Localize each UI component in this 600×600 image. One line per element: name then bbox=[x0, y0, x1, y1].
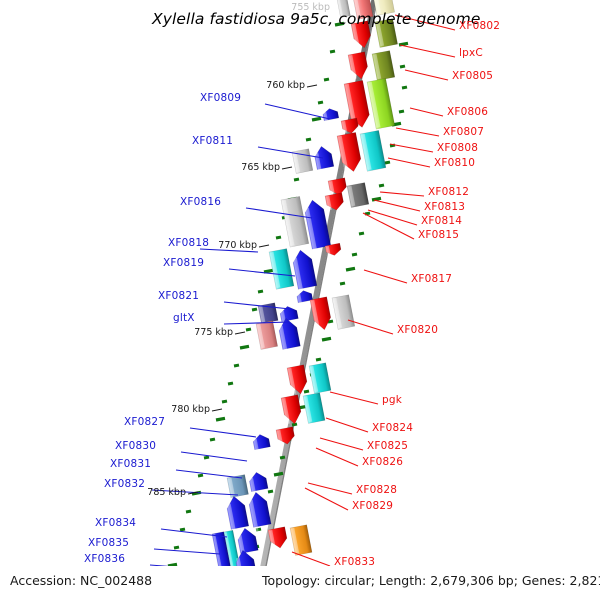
accession-text: Accession: NC_002488 bbox=[10, 573, 152, 588]
gene-label-xf0836[interactable]: XF0836 bbox=[84, 553, 125, 565]
scale-label-765-kbp: 765 kbp bbox=[234, 162, 280, 173]
gene-XF0820-gray[interactable] bbox=[332, 295, 355, 330]
gene-label-gltx[interactable]: gltX bbox=[173, 312, 195, 324]
scale-tick bbox=[294, 179, 299, 180]
scale-tick bbox=[324, 79, 329, 80]
gene-label-xf0826[interactable]: XF0826 bbox=[362, 456, 403, 468]
scale-tick bbox=[312, 118, 321, 120]
scale-tick bbox=[198, 475, 203, 476]
gene-label-xf0825[interactable]: XF0825 bbox=[367, 440, 408, 452]
gene-label-xf0812[interactable]: XF0812 bbox=[428, 186, 469, 198]
gene-label-xf0830[interactable]: XF0830 bbox=[115, 440, 156, 452]
gene-label-xf0814[interactable]: XF0814 bbox=[421, 215, 462, 227]
gene-label-xf0817[interactable]: XF0817 bbox=[411, 273, 452, 285]
scale-label-760-kbp: 760 kbp bbox=[259, 80, 305, 91]
scale-tick bbox=[304, 391, 309, 392]
gene-label-xf0818[interactable]: XF0818 bbox=[168, 237, 209, 249]
leader-line bbox=[258, 147, 323, 158]
gene-label-pgk[interactable]: pgk bbox=[382, 394, 402, 406]
gene-XF0813[interactable] bbox=[325, 193, 345, 212]
scale-tick bbox=[276, 237, 281, 238]
gene-XF0833-orange[interactable] bbox=[290, 525, 312, 556]
scale-tick bbox=[252, 309, 257, 310]
scale-tick bbox=[402, 87, 407, 88]
leader-line bbox=[348, 320, 393, 334]
scale-tick bbox=[379, 185, 384, 186]
leader-line bbox=[410, 108, 443, 116]
scale-tick bbox=[268, 491, 273, 492]
gene-label-xf0815[interactable]: XF0815 bbox=[418, 229, 459, 241]
gene-label-xf0809[interactable]: XF0809 bbox=[200, 92, 241, 104]
gene-label-xf0831[interactable]: XF0831 bbox=[110, 458, 151, 470]
gene-label-xf0819[interactable]: XF0819 bbox=[163, 257, 204, 269]
scale-tick bbox=[186, 511, 191, 512]
leader-line bbox=[181, 452, 247, 461]
gene-XF0807[interactable] bbox=[341, 118, 359, 135]
leader-line bbox=[265, 104, 330, 119]
gene-label-xf0835[interactable]: XF0835 bbox=[88, 537, 129, 549]
scale-label-770-kbp: 770 kbp bbox=[211, 240, 257, 251]
scale-tick bbox=[316, 359, 321, 360]
scale-label-775-kbp: 775 kbp bbox=[187, 327, 233, 338]
leader-line bbox=[190, 428, 256, 437]
scale-tick bbox=[340, 283, 345, 284]
scale-tick bbox=[306, 139, 311, 140]
gene-label-xf0828[interactable]: XF0828 bbox=[356, 484, 397, 496]
topology-text: Topology: circular; Length: 2,679,306 bp… bbox=[262, 573, 600, 588]
gene-label-xf0821[interactable]: XF0821 bbox=[158, 290, 199, 302]
leader-line bbox=[316, 448, 358, 466]
gene-label-xf0807[interactable]: XF0807 bbox=[443, 126, 484, 138]
leader-line bbox=[368, 210, 417, 225]
scale-tick bbox=[204, 457, 209, 458]
leader-line bbox=[400, 45, 455, 57]
scale-tick bbox=[216, 418, 225, 420]
scale-label-780-kbp: 780 kbp bbox=[164, 404, 210, 415]
genome-map-canvas[interactable]: Xylella fastidiosa 9a5c, complete genome… bbox=[0, 0, 600, 600]
scale-tick bbox=[180, 529, 185, 530]
scale-tick bbox=[385, 162, 390, 163]
gene-label-xf0810[interactable]: XF0810 bbox=[434, 157, 475, 169]
scale-tick bbox=[274, 473, 283, 475]
scale-tick bbox=[174, 547, 179, 548]
gene-XF0809-blue[interactable] bbox=[322, 107, 339, 121]
leader-line bbox=[364, 270, 407, 283]
gene-XF0824-red[interactable] bbox=[281, 395, 303, 426]
gene-XF0816-gray[interactable] bbox=[281, 196, 309, 247]
gene-label-xf0816[interactable]: XF0816 bbox=[180, 196, 221, 208]
gene-gltX-salmon[interactable] bbox=[256, 321, 278, 350]
leader-line bbox=[374, 200, 420, 211]
gene-XF0814[interactable] bbox=[347, 183, 369, 208]
gene-XF0832-blue[interactable] bbox=[225, 495, 250, 534]
scale-tick bbox=[399, 111, 404, 112]
leader-line bbox=[363, 213, 414, 239]
gene-label-xf0802[interactable]: XF0802 bbox=[459, 20, 500, 32]
scale-tick bbox=[222, 401, 227, 402]
leader-line bbox=[390, 144, 433, 152]
gene-glyph bbox=[291, 248, 317, 289]
scale-tick bbox=[234, 365, 239, 366]
gene-label-xf0827[interactable]: XF0827 bbox=[124, 416, 165, 428]
gene-label-xf0806[interactable]: XF0806 bbox=[447, 106, 488, 118]
gene-XF0810[interactable] bbox=[360, 130, 386, 171]
scale-tick bbox=[246, 329, 251, 330]
scale-tick bbox=[318, 102, 323, 103]
gene-label-xf0808[interactable]: XF0808 bbox=[437, 142, 478, 154]
leader-line bbox=[320, 438, 363, 450]
gene-label-xf0829[interactable]: XF0829 bbox=[352, 500, 393, 512]
gene-label-xf0832[interactable]: XF0832 bbox=[104, 478, 145, 490]
leader-line bbox=[396, 128, 439, 136]
scale-tick bbox=[346, 268, 355, 270]
gene-XF0806[interactable] bbox=[367, 78, 395, 129]
scale-tick bbox=[280, 457, 285, 458]
leader-line bbox=[388, 158, 430, 167]
scale-tick bbox=[372, 198, 381, 200]
gene-glyph bbox=[247, 491, 271, 528]
scale-label-785-kbp: 785 kbp bbox=[140, 487, 186, 498]
gene-XF0833-red[interactable] bbox=[268, 527, 289, 550]
gene-label-lpxc[interactable]: lpxC bbox=[459, 47, 483, 59]
gene-label-xf0820[interactable]: XF0820 bbox=[397, 324, 438, 336]
leader-line bbox=[405, 70, 448, 80]
gene-label-xf0834[interactable]: XF0834 bbox=[95, 517, 136, 529]
gene-pgk-cyan[interactable] bbox=[309, 363, 331, 394]
leader-line bbox=[176, 470, 242, 478]
scale-tick bbox=[352, 254, 357, 255]
gene-label-xf0813[interactable]: XF0813 bbox=[424, 201, 465, 213]
scale-tick bbox=[359, 233, 364, 234]
status-bar: Accession: NC_002488 Topology: circular;… bbox=[0, 566, 600, 600]
scale-tick bbox=[228, 383, 233, 384]
gene-XF0818-cyan[interactable] bbox=[269, 249, 294, 290]
gene-XF0825-cyan[interactable] bbox=[303, 393, 325, 424]
scale-tick bbox=[240, 346, 249, 348]
gene-label-xf0805[interactable]: XF0805 bbox=[452, 70, 493, 82]
leader-line bbox=[292, 552, 330, 566]
scale-tick bbox=[210, 439, 215, 440]
gene-label-xf0824[interactable]: XF0824 bbox=[372, 422, 413, 434]
scale-tick bbox=[292, 424, 297, 425]
leader-line bbox=[154, 549, 220, 554]
gene-XF0830-blue[interactable] bbox=[248, 471, 269, 494]
gene-blue-small-1[interactable] bbox=[313, 145, 335, 173]
scale-tick bbox=[322, 338, 331, 340]
scale-tick bbox=[400, 66, 405, 67]
gene-XF0827-blue[interactable] bbox=[252, 433, 271, 451]
gene-label-xf0811[interactable]: XF0811 bbox=[192, 135, 233, 147]
scale-tick bbox=[330, 51, 335, 52]
gene-XF0819-blue[interactable] bbox=[291, 248, 318, 293]
leader-line bbox=[224, 302, 290, 309]
leader-line bbox=[330, 392, 378, 404]
gene-olive-2[interactable] bbox=[372, 51, 395, 81]
scale-tick bbox=[264, 270, 273, 272]
scale-label-755-kbp: 755 kbp bbox=[284, 2, 330, 13]
leader-line bbox=[326, 418, 368, 432]
gene-XF0811-gray[interactable] bbox=[292, 149, 313, 174]
gene-XF0826-red[interactable] bbox=[276, 427, 296, 446]
leader-line bbox=[380, 192, 424, 196]
scale-tick bbox=[258, 291, 263, 292]
